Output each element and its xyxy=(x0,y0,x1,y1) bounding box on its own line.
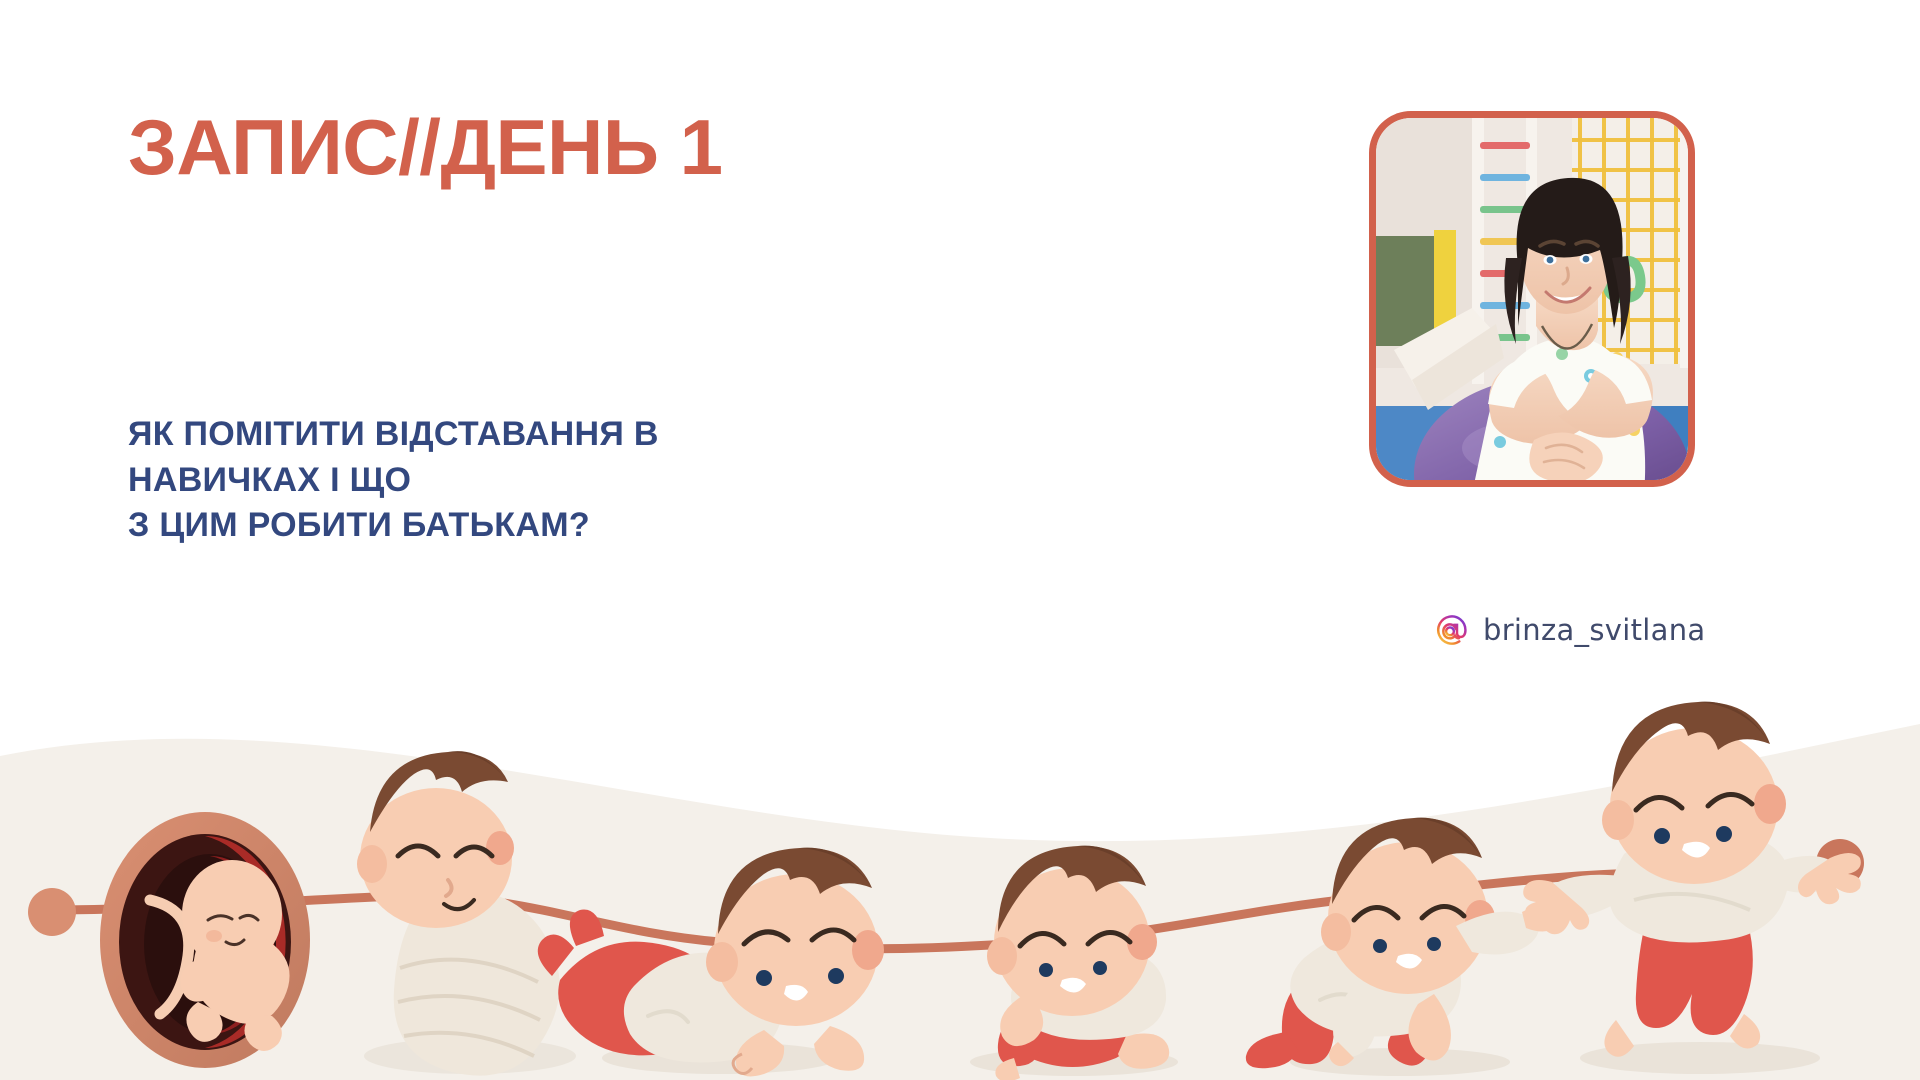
slide-headline: ЗАПИС//ДЕНЬ 1 xyxy=(128,108,723,186)
stage-tummy-time-baby xyxy=(538,848,884,1077)
slide-canvas: ЗАПИС//ДЕНЬ 1 ЯК ПОМІТИТИ ВІДСТАВАННЯ В … xyxy=(0,0,1920,1080)
presenter-photo-image xyxy=(1376,118,1688,480)
subtitle-line-3: З ЦИМ РОБИТИ БАТЬКАМ? xyxy=(128,503,659,549)
presenter-photo xyxy=(1376,118,1688,480)
connector-start-dot xyxy=(28,888,76,936)
stage-fetus-in-womb xyxy=(100,812,310,1068)
stage-swaddled-newborn xyxy=(357,751,576,1076)
background-wave-band xyxy=(0,660,1920,1080)
slide-subtitle: ЯК ПОМІТИТИ ВІДСТАВАННЯ В НАВИЧКАХ І ЩО … xyxy=(128,412,659,549)
at-icon xyxy=(1435,613,1469,647)
instagram-username: brinza_svitlana xyxy=(1483,613,1705,647)
presenter-photo-card xyxy=(1369,111,1695,487)
instagram-handle[interactable]: brinza_svitlana xyxy=(1435,613,1705,647)
child-development-illustration xyxy=(0,650,1920,1080)
stage-sitting-baby xyxy=(970,846,1178,1080)
timeline-connector xyxy=(28,839,1864,949)
subtitle-line-2: НАВИЧКАХ І ЩО xyxy=(128,458,659,504)
connector-end-dot xyxy=(1816,839,1864,887)
stage-walking-toddler xyxy=(1523,702,1861,1074)
stage-crawling-baby xyxy=(1246,818,1567,1076)
subtitle-line-1: ЯК ПОМІТИТИ ВІДСТАВАННЯ В xyxy=(128,412,659,458)
